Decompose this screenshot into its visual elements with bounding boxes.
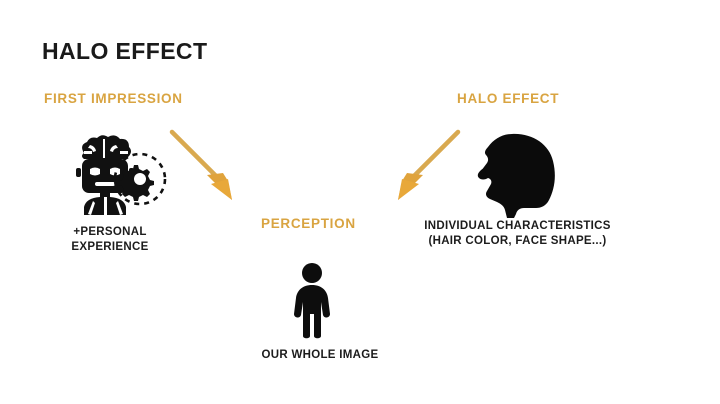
page-title: HALO EFFECT (42, 38, 207, 65)
diagram-canvas: HALO EFFECT FIRST IMPRESSION (0, 0, 720, 404)
ai-brain-head-gear-icon (56, 135, 166, 220)
caption-personal-experience-line2: EXPERIENCE (40, 240, 180, 255)
arrow-down-left-icon (372, 126, 464, 210)
caption-individual-characteristics: INDIVIDUAL CHARACTERISTICS (HAIR COLOR, … (395, 219, 640, 249)
label-perception: PERCEPTION (261, 216, 356, 231)
head-profile-silhouette-icon (466, 132, 570, 218)
caption-personal-experience: +PERSONAL EXPERIENCE (40, 225, 180, 255)
person-standing-icon (288, 262, 336, 338)
arrow-down-right-icon (166, 126, 258, 210)
caption-individual-characteristics-line1: INDIVIDUAL CHARACTERISTICS (395, 219, 640, 234)
heading-first-impression: FIRST IMPRESSION (44, 91, 183, 106)
caption-our-whole-image: OUR WHOLE IMAGE (235, 348, 405, 363)
caption-individual-characteristics-line2: (HAIR COLOR, FACE SHAPE...) (395, 234, 640, 249)
heading-halo-effect: HALO EFFECT (457, 91, 559, 106)
caption-personal-experience-line1: +PERSONAL (40, 225, 180, 240)
